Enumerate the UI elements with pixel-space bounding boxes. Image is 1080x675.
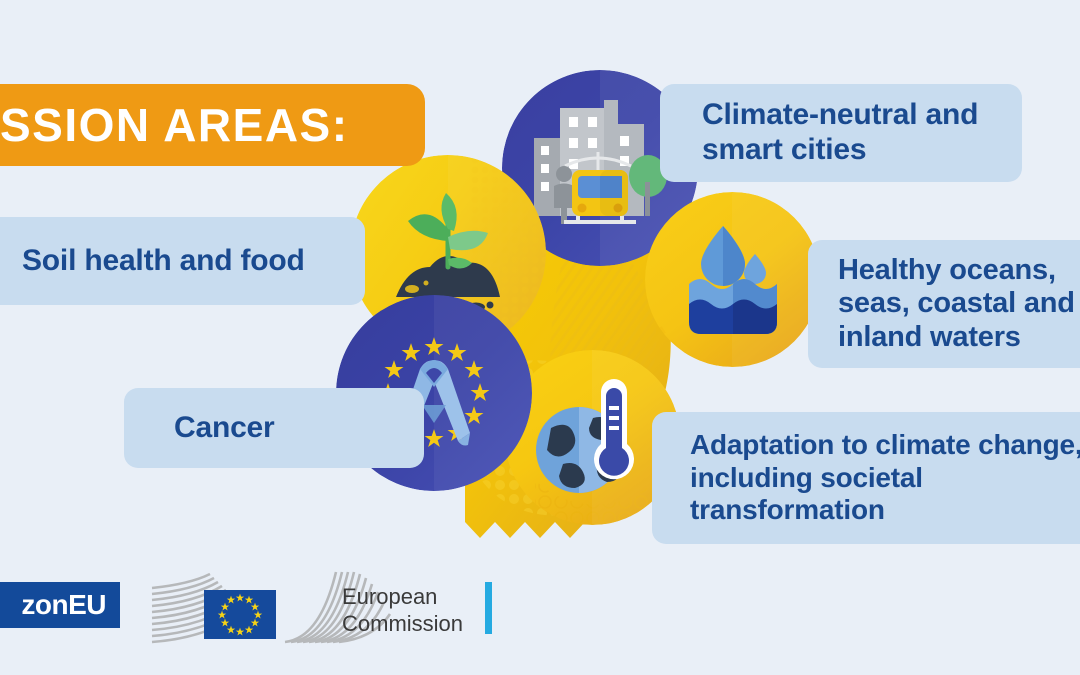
mission-label-soil[interactable]: Soil health and food [0,217,365,305]
page-title: SSION AREAS: [0,98,349,152]
horizon-eu-label: zonEU [21,589,106,621]
footer-logos: zonEU [0,560,1080,675]
ec-line-1: European [342,584,463,611]
horizon-eu-badge: zonEU [0,582,120,628]
mission-label-soil-text: Soil health and food [22,244,305,279]
mission-label-cancer[interactable]: Cancer [124,388,424,468]
mission-label-oceans-text: Healthy oceans, seas, coastal and inland… [838,254,1080,355]
infographic-canvas: Climate-neutral and smart cities Soil he… [0,0,1080,675]
ec-accent-bar [485,582,492,634]
european-commission-wordmark: European Commission [342,584,463,638]
mission-label-cities[interactable]: Climate-neutral and smart cities [660,84,1022,182]
mission-label-adaptation[interactable]: Adaptation to climate change, including … [652,412,1080,544]
mission-label-oceans[interactable]: Healthy oceans, seas, coastal and inland… [808,240,1080,368]
mission-circle-oceans[interactable] [645,192,820,367]
ec-line-2: Commission [342,611,463,638]
mission-label-adaptation-text: Adaptation to climate change, including … [690,429,1080,526]
mission-label-cities-text: Climate-neutral and smart cities [702,98,1022,168]
mission-label-cancer-text: Cancer [174,411,275,446]
eu-flag-icon [204,590,276,639]
mission-areas-banner: SSION AREAS: [0,84,425,166]
